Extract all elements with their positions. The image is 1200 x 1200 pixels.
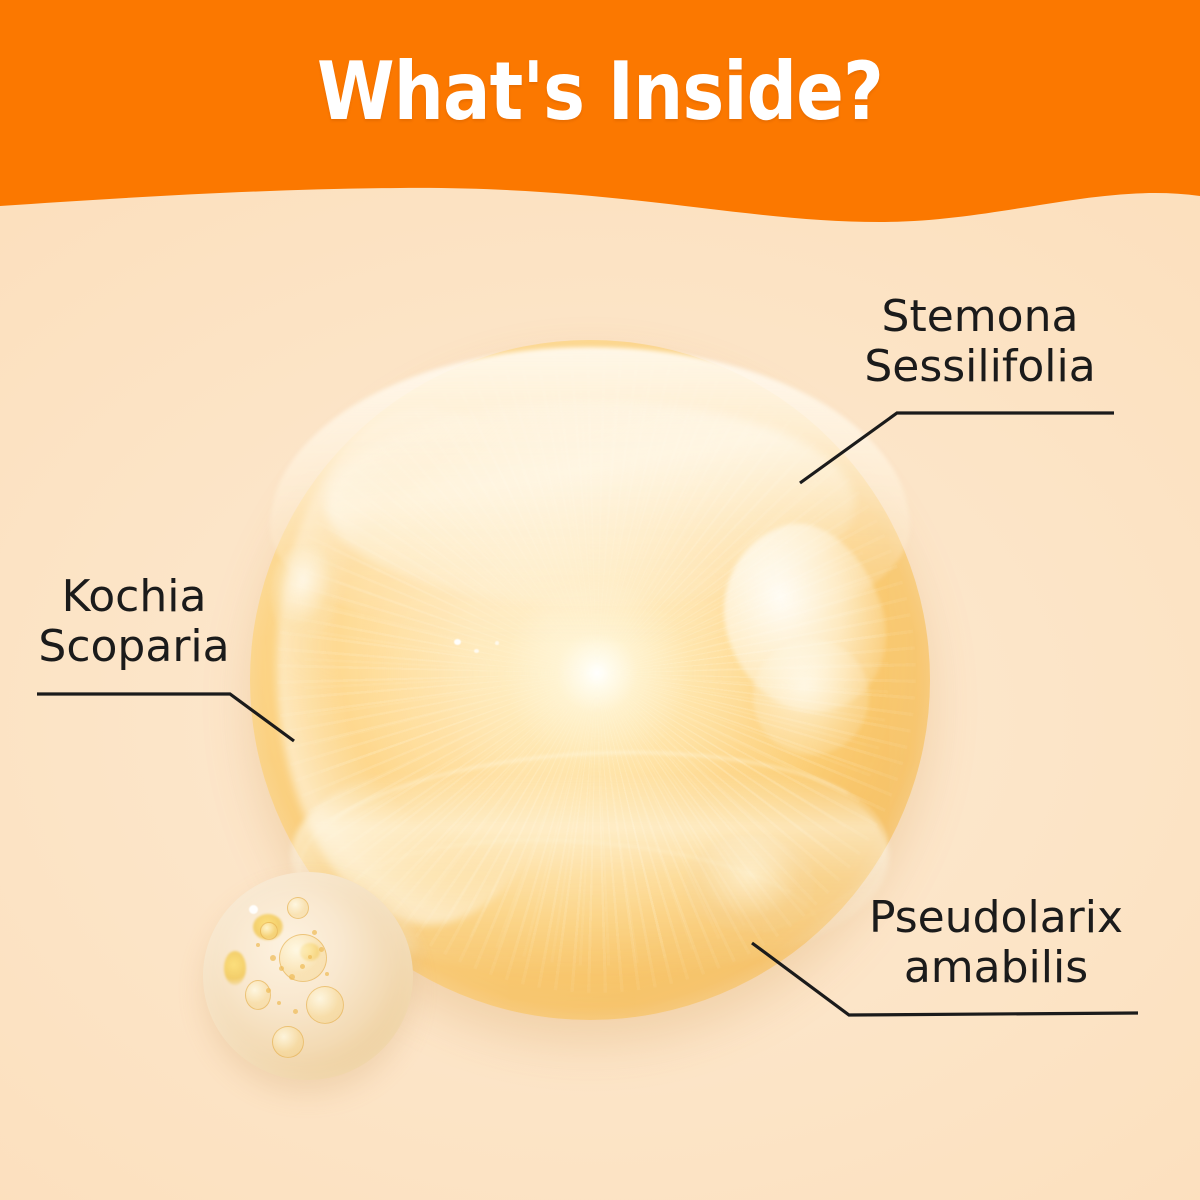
droplet-microbubble-12: [312, 930, 317, 935]
droplet-microbubble-10: [325, 972, 329, 976]
callout-label-stemona-sessilifolia: Stemona Sessilifolia: [830, 292, 1130, 391]
droplet-microbubble-1: [270, 955, 276, 961]
droplet-microbubble-8: [277, 1001, 281, 1005]
page-title: What's Inside?: [72, 52, 1128, 132]
droplet-microbubble-3: [289, 974, 295, 980]
droplet-microbubble-9: [293, 1009, 298, 1014]
droplet-bubble-medium-1: [287, 897, 309, 919]
droplet-microbubble-2: [279, 966, 284, 971]
droplet-bubble-medium-2: [260, 922, 278, 940]
droplet-bubble-large-2: [306, 986, 344, 1024]
droplet-microbubble-6: [319, 947, 324, 952]
droplet-microbubble-4: [300, 964, 305, 969]
small-serum-droplet: [203, 872, 413, 1080]
sphere-inner-blob-right-lower: [753, 639, 869, 755]
droplet-gold-flake-2: [224, 951, 246, 985]
product-ingredient-infographic: What's Inside? Stemona Sessilifolia Koch…: [0, 0, 1200, 1200]
callout-label-pseudolarix-amabilis: Pseudolarix amabilis: [846, 893, 1146, 992]
droplet-specular-dot: [249, 905, 258, 914]
droplet-bubble-medium-3: [245, 980, 271, 1010]
droplet-bubble-large-3: [272, 1026, 304, 1058]
sphere-specular-dot-3: [495, 641, 499, 645]
callout-label-kochia-scoparia: Kochia Scoparia: [14, 572, 254, 671]
droplet-microbubble-11: [256, 943, 260, 947]
droplet-body: [203, 872, 413, 1080]
droplet-bubble-large-1: [279, 934, 327, 982]
